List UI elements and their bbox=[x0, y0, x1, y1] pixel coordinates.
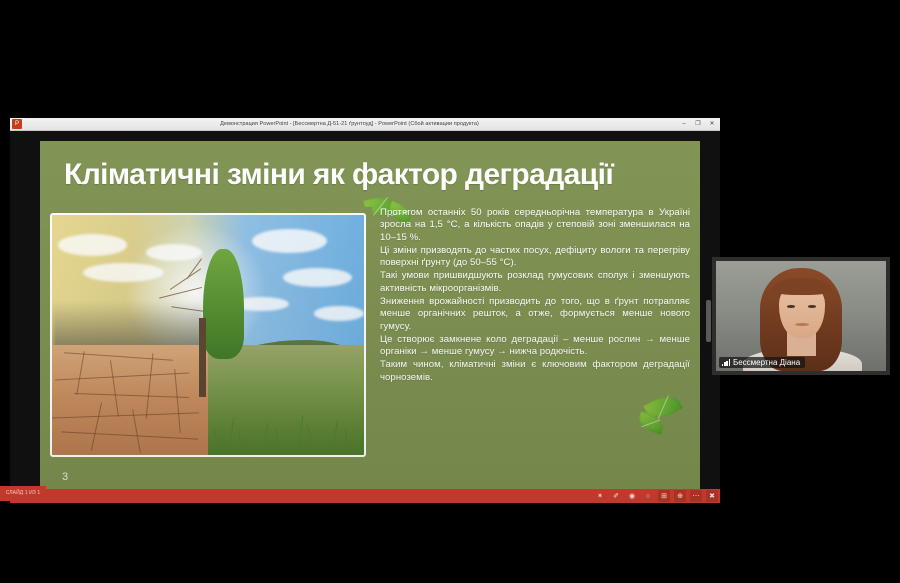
close-button[interactable]: ✕ bbox=[705, 118, 719, 131]
video-fringe bbox=[772, 278, 832, 296]
participant-name: Бессмертна Діана bbox=[733, 358, 800, 367]
pen-tool-icon[interactable]: ✐ bbox=[610, 490, 622, 502]
video-eye-left bbox=[787, 305, 796, 308]
slide-grid-icon[interactable]: ⊞ bbox=[658, 490, 670, 502]
slide-stage[interactable]: Кліматичні зміни як фактор деградації bbox=[10, 131, 720, 503]
powerpoint-window: P Демонстрация PowerPoint - [Бессмертна … bbox=[10, 118, 720, 503]
screen-root: P Демонстрация PowerPoint - [Бессмертна … bbox=[0, 0, 900, 583]
window-titlebar[interactable]: P Демонстрация PowerPoint - [Бессмертна … bbox=[10, 118, 720, 131]
more-options-icon[interactable]: ⋯ bbox=[690, 490, 702, 502]
maximize-button[interactable]: ❐ bbox=[691, 118, 705, 131]
end-show-icon[interactable]: ✖ bbox=[706, 490, 718, 502]
pointer-tool-icon[interactable]: ✶ bbox=[594, 490, 606, 502]
image-green-field bbox=[208, 345, 364, 455]
window-title: Демонстрация PowerPoint - [Бессмертна Д-… bbox=[22, 121, 677, 127]
zoom-slide-icon[interactable]: ⊕ bbox=[674, 490, 686, 502]
climate-change-image bbox=[50, 213, 366, 457]
image-tree-canopy bbox=[203, 249, 244, 359]
participant-nameplate: Бессмертна Діана bbox=[719, 357, 805, 368]
slide-paragraph: Зниження врожайності призводить до того,… bbox=[380, 296, 690, 333]
slide-paragraph: Ці зміни призводять до частих посух, деф… bbox=[380, 245, 690, 270]
slide-paragraph: Такі умови пришвидшують розклад гумусови… bbox=[380, 270, 690, 295]
slide-body-text: Протягом останніх 50 років середньорічна… bbox=[380, 207, 690, 385]
presenter-toolbar[interactable]: ✶ ✐ ◉ ○ ⊞ ⊕ ⋯ ✖ bbox=[10, 489, 720, 503]
slide-paragraph: Протягом останніх 50 років середньорічна… bbox=[380, 207, 690, 244]
audio-level-icon bbox=[722, 359, 730, 366]
highlighter-tool-icon[interactable]: ◉ bbox=[626, 490, 638, 502]
slide-paragraph: Таким чином, кліматичні зміни є ключовим… bbox=[380, 359, 690, 384]
slide-title: Кліматичні зміни як фактор деградації bbox=[64, 159, 684, 191]
image-cracked-earth bbox=[52, 345, 208, 455]
slide-paragraph: Це створює замкнене коло деградації – ме… bbox=[380, 334, 690, 359]
eraser-tool-icon[interactable]: ○ bbox=[642, 490, 654, 502]
slide-canvas[interactable]: Кліматичні зміни як фактор деградації bbox=[40, 141, 700, 493]
minimize-button[interactable]: – bbox=[677, 118, 691, 131]
video-mouth bbox=[795, 323, 809, 326]
image-tree-trunk bbox=[199, 318, 207, 397]
slide-number: 3 bbox=[62, 471, 68, 483]
slide-image-frame bbox=[44, 207, 372, 463]
slide-counter-badge: СЛАЙД 1 ИЗ 1 bbox=[0, 486, 46, 501]
powerpoint-icon: P bbox=[12, 119, 22, 129]
video-eye-right bbox=[808, 305, 817, 308]
participant-video-tile[interactable]: Бессмертна Діана bbox=[712, 257, 890, 375]
panel-scrollbar[interactable] bbox=[706, 300, 711, 342]
participant-video: Бессмертна Діана bbox=[716, 261, 886, 371]
image-dark-cloud bbox=[52, 301, 202, 349]
